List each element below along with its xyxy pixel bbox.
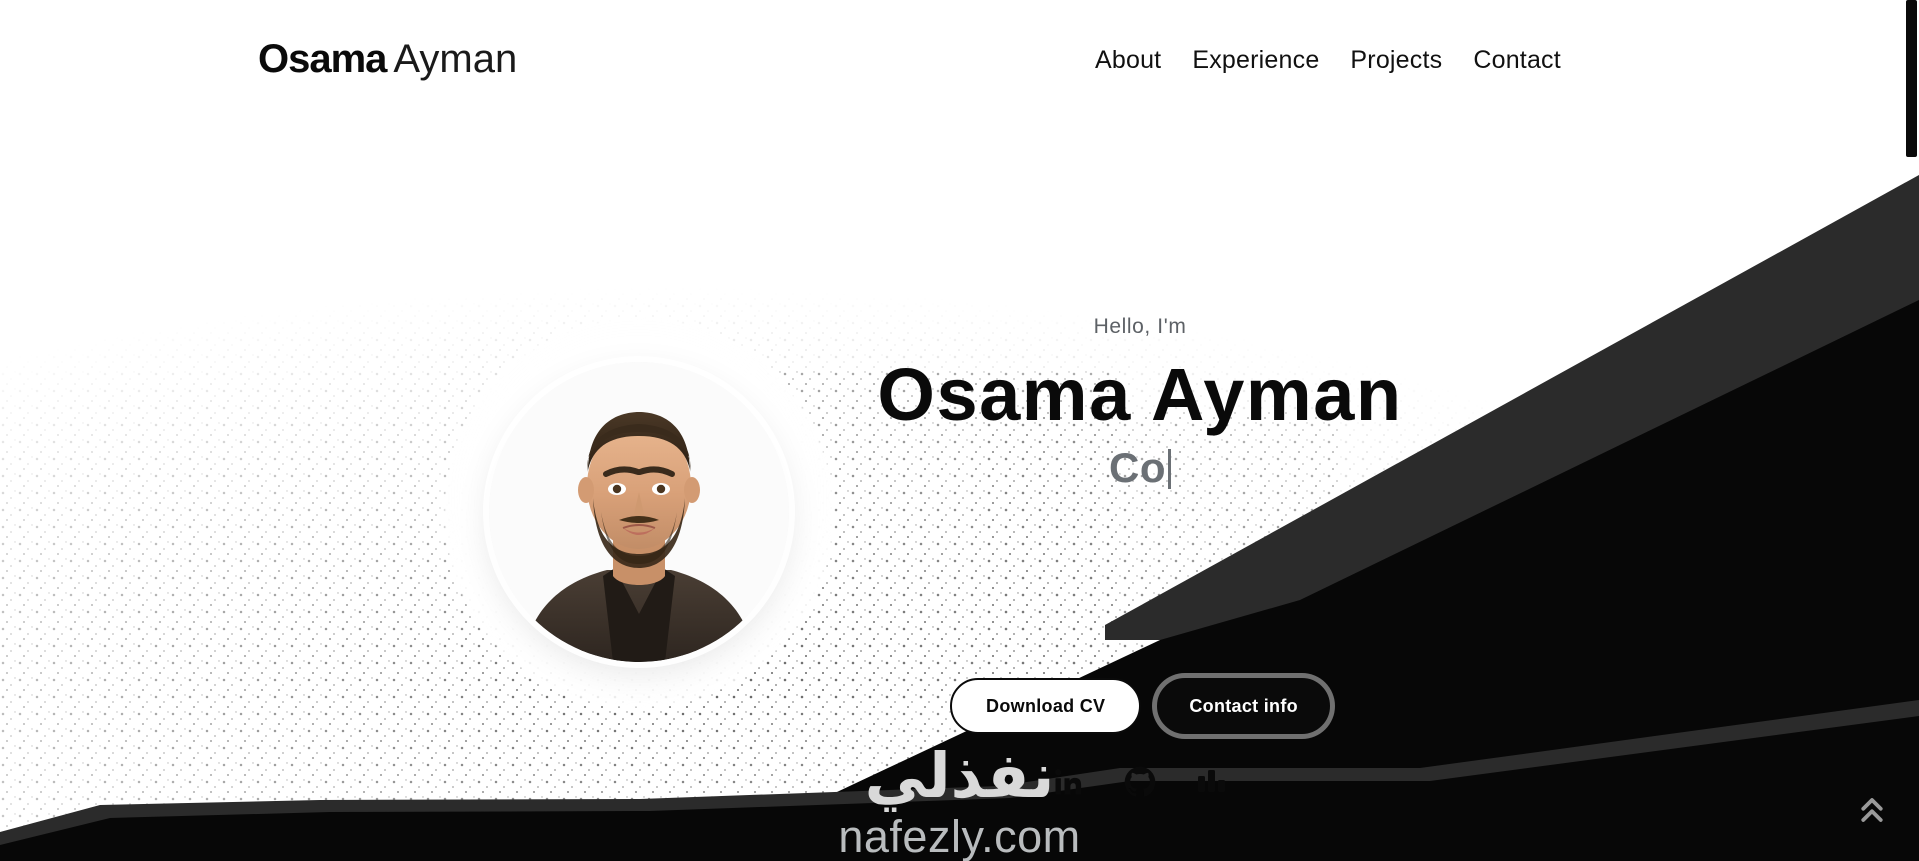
- avatar-container: [444, 318, 834, 708]
- brand-last-name: Ayman: [393, 37, 517, 81]
- site-header: OsamaAyman About Experience Projects Con…: [0, 0, 1919, 118]
- social-link-github[interactable]: [1121, 763, 1159, 801]
- nav-link-about[interactable]: About: [1095, 44, 1161, 76]
- typing-caret-icon: [1168, 449, 1171, 489]
- hero-section: Hello, I'm Osama Ayman Co Download CV Co…: [0, 118, 1919, 861]
- brand-logo[interactable]: OsamaAyman: [258, 36, 517, 82]
- download-cv-button[interactable]: Download CV: [950, 678, 1141, 734]
- avatar: [489, 362, 789, 662]
- hero-greeting: Hello, I'm: [830, 314, 1450, 340]
- contact-info-button[interactable]: Contact info: [1157, 678, 1330, 734]
- bar-chart-icon: [1196, 767, 1228, 797]
- hero-cta-row: Download CV Contact info: [830, 678, 1450, 734]
- linkedin-icon: [1053, 767, 1083, 797]
- page-scrollbar-thumb[interactable]: [1906, 0, 1917, 157]
- page-root: OsamaAyman About Experience Projects Con…: [0, 0, 1919, 861]
- hero-typing-text: Co: [1109, 444, 1166, 491]
- brand-first-name: Osama: [258, 37, 386, 81]
- double-chevron-up-icon: [1857, 795, 1887, 830]
- social-link-linkedin[interactable]: [1049, 763, 1087, 801]
- social-link-kaggle[interactable]: [1193, 763, 1231, 801]
- page-title: Osama Ayman: [830, 352, 1450, 438]
- github-icon: [1124, 766, 1156, 798]
- page-scrollbar-track[interactable]: [1904, 0, 1919, 861]
- nav-link-contact[interactable]: Contact: [1473, 44, 1561, 76]
- main-navigation: About Experience Projects Contact: [1095, 44, 1561, 76]
- scroll-to-top-button[interactable]: [1845, 785, 1899, 839]
- avatar-portrait-icon: [489, 362, 789, 662]
- hero-copy: Hello, I'm Osama Ayman Co: [830, 314, 1450, 496]
- nav-link-projects[interactable]: Projects: [1350, 44, 1442, 76]
- social-links-row: [830, 763, 1450, 801]
- hero-typing-role: Co: [830, 440, 1450, 496]
- nav-link-experience[interactable]: Experience: [1192, 44, 1319, 76]
